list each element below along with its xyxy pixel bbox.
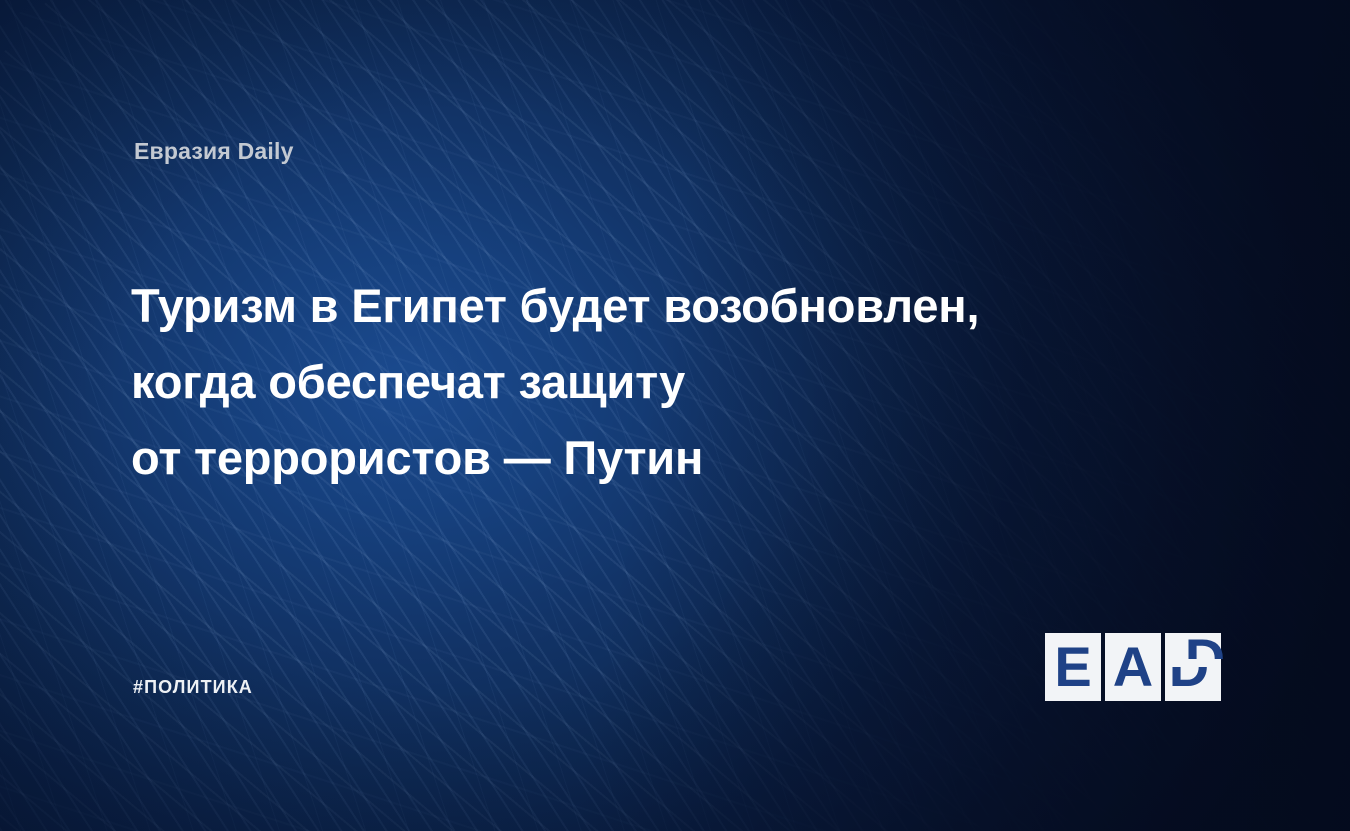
headline: Туризм в Египет будет возобновлен, когда… [131,268,1141,496]
logo-tile-e: E [1045,633,1101,701]
category-tag[interactable]: #ПОЛИТИКА [133,677,253,698]
logo-tile-d: D D [1165,633,1221,701]
headline-line-1: Туризм в Египет будет возобновлен, [131,268,1141,344]
logo-letter-a: A [1113,639,1153,695]
eadaily-logo[interactable]: E A D D [1045,633,1221,701]
news-share-card: Евразия Daily Туризм в Египет будет возо… [0,0,1350,831]
logo-letter-d-bottom: D [1161,667,1217,701]
headline-line-3: от террористов — Путин [131,420,1141,496]
card-content: Евразия Daily Туризм в Египет будет возо… [0,0,1350,831]
logo-letter-e: E [1054,639,1091,695]
logo-tile-a: A [1105,633,1161,701]
headline-line-2: когда обеспечат защиту [131,344,1141,420]
logo-letter-d-top: D [1177,625,1233,659]
publication-masthead: Евразия Daily [134,138,294,165]
